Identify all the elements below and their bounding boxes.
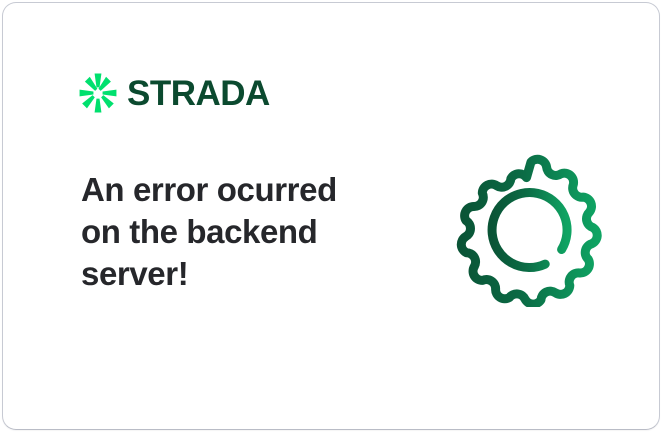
brand-wordmark: STRADA — [127, 76, 270, 111]
error-message: An error ocurred on the backend server! — [81, 169, 371, 295]
strada-asterisk-icon — [79, 73, 117, 113]
brand-logo: STRADA — [79, 73, 270, 113]
error-card: STRADA An error ocurred on the backend s… — [2, 2, 660, 430]
gear-cog-icon — [450, 145, 612, 307]
